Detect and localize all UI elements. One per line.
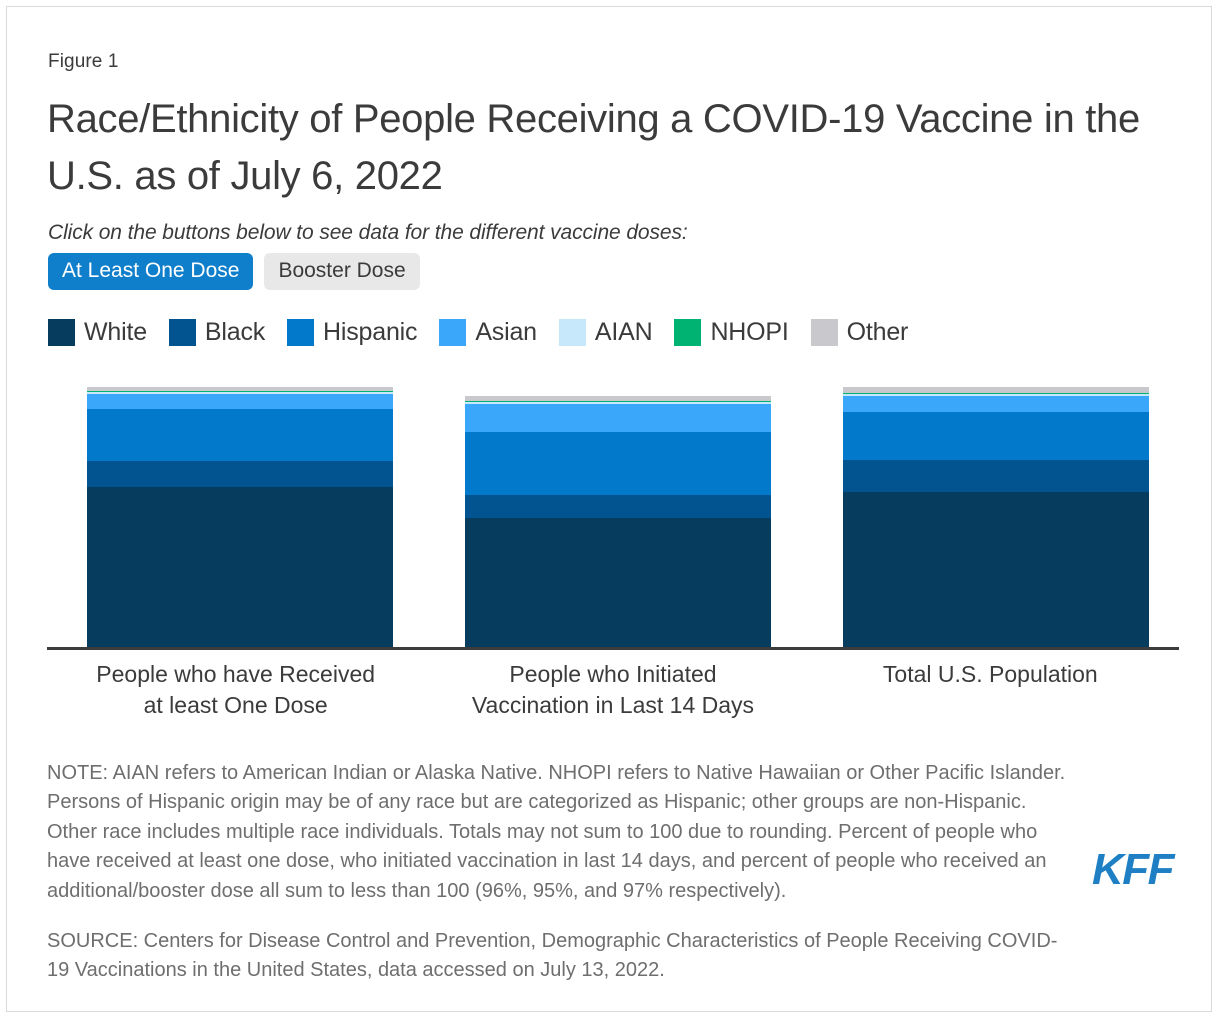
bar-segment-asian[interactable] (843, 396, 1149, 411)
category-label-line: Vaccination in Last 14 Days (424, 690, 801, 721)
bar-segment-asian[interactable] (87, 394, 393, 409)
legend-swatch-icon (169, 319, 196, 346)
legend-item-hispanic[interactable]: Hispanic (287, 318, 417, 347)
bar-segment-hispanic[interactable] (465, 432, 771, 495)
chart-instruction: Click on the buttons below to see data f… (48, 221, 688, 245)
category-label: Total U.S. Population (802, 659, 1179, 721)
bar-segment-hispanic[interactable] (843, 412, 1149, 460)
category-label-line: People who Initiated (424, 659, 801, 690)
chart-legend: WhiteBlackHispanicAsianAIANNHOPIOther (48, 318, 930, 347)
chart-source: SOURCE: Centers for Disease Control and … (47, 927, 1077, 986)
button-at-least-one-dose[interactable]: At Least One Dose (48, 253, 253, 290)
legend-label: Black (205, 318, 265, 347)
page-title: Race/Ethnicity of People Receiving a COV… (47, 91, 1167, 205)
category-label: People who InitiatedVaccination in Last … (424, 659, 801, 721)
bar-segment-black[interactable] (87, 461, 393, 487)
bar-segment-hispanic[interactable] (87, 409, 393, 461)
bar-column[interactable] (465, 396, 771, 649)
bar-segment-white[interactable] (465, 518, 771, 649)
legend-swatch-icon (287, 319, 314, 346)
legend-label: AIAN (595, 318, 653, 347)
kff-logo: KFF (1092, 845, 1173, 895)
legend-swatch-icon (674, 319, 701, 346)
chart-plot-area (47, 387, 1177, 649)
category-label-line: at least One Dose (47, 690, 424, 721)
legend-item-nhopi[interactable]: NHOPI (674, 318, 788, 347)
bar-segment-black[interactable] (843, 460, 1149, 492)
legend-swatch-icon (559, 319, 586, 346)
x-axis-line (47, 647, 1179, 650)
legend-label: Asian (475, 318, 537, 347)
figure-label: Figure 1 (48, 51, 119, 73)
bar-segment-white[interactable] (87, 487, 393, 649)
category-label-line: People who have Received (47, 659, 424, 690)
legend-label: NHOPI (710, 318, 788, 347)
legend-label: Hispanic (323, 318, 417, 347)
legend-swatch-icon (439, 319, 466, 346)
bar-segment-white[interactable] (843, 492, 1149, 649)
legend-item-aian[interactable]: AIAN (559, 318, 653, 347)
category-label: People who have Receivedat least One Dos… (47, 659, 424, 721)
dose-toggle-group: At Least One Dose Booster Dose (48, 253, 420, 290)
legend-swatch-icon (811, 319, 838, 346)
button-booster-dose[interactable]: Booster Dose (264, 253, 419, 290)
legend-item-black[interactable]: Black (169, 318, 265, 347)
legend-item-white[interactable]: White (48, 318, 147, 347)
bar-column[interactable] (843, 387, 1149, 649)
bar-segment-black[interactable] (465, 495, 771, 518)
legend-label: Other (847, 318, 909, 347)
chart-card: Figure 1 Race/Ethnicity of People Receiv… (6, 6, 1212, 1012)
chart-note: NOTE: AIAN refers to American Indian or … (47, 759, 1077, 906)
category-label-line: Total U.S. Population (802, 659, 1179, 690)
legend-item-asian[interactable]: Asian (439, 318, 537, 347)
bar-column[interactable] (87, 387, 393, 649)
bar-segment-asian[interactable] (465, 404, 771, 432)
legend-item-other[interactable]: Other (811, 318, 909, 347)
legend-label: White (84, 318, 147, 347)
legend-swatch-icon (48, 319, 75, 346)
x-axis-category-labels: People who have Receivedat least One Dos… (47, 659, 1179, 721)
